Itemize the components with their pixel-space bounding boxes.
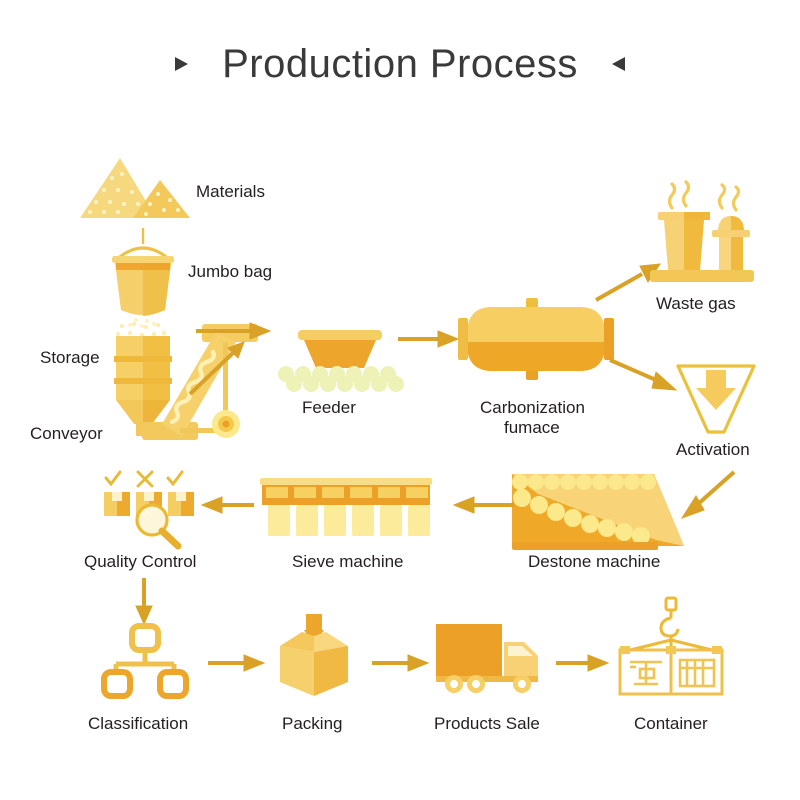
delivery-truck-icon: [436, 620, 550, 696]
node-waste-gas[interactable]: [644, 182, 760, 294]
arrow-sieve-quality: [200, 496, 254, 514]
feeder-hopper-icon: [276, 330, 402, 392]
title-text: Production Process: [222, 42, 578, 87]
label-waste-gas: Waste gas: [656, 294, 736, 314]
label-classification: Classification: [88, 714, 188, 734]
arrow-conveyor-up: [186, 338, 258, 400]
node-products-sale[interactable]: [436, 620, 550, 696]
label-materials: Materials: [196, 182, 265, 202]
arrow-products-sale-container: [556, 654, 610, 672]
node-activation[interactable]: [674, 362, 758, 438]
label-sieve: Sieve machine: [292, 552, 404, 572]
label-container: Container: [634, 714, 708, 734]
node-classification[interactable]: [104, 624, 186, 700]
label-storage: Storage: [40, 348, 100, 368]
shipping-container-icon: [612, 596, 730, 698]
node-packing[interactable]: [272, 612, 356, 698]
arrow-conveyor-feeder: [196, 322, 274, 340]
arrow-classification-packing: [208, 654, 266, 672]
quality-control-icon: [98, 468, 198, 548]
label-carbonization-line1: Carbonization: [480, 398, 585, 418]
node-destone[interactable]: [508, 470, 688, 556]
activation-funnel-icon: [674, 362, 758, 438]
material-pile-icon: [78, 152, 198, 222]
label-carbonization-line2: fumace: [504, 418, 560, 438]
waste-gas-stacks-icon: [644, 182, 760, 294]
label-jumbo-bag: Jumbo bag: [188, 262, 272, 282]
node-carbonization[interactable]: [450, 298, 622, 380]
arrow-destone-sieve: [452, 496, 514, 514]
diagram-canvas: Production Process Materials: [0, 0, 800, 800]
label-products-sale: Products Sale: [434, 714, 540, 734]
label-packing: Packing: [282, 714, 342, 734]
label-feeder: Feeder: [302, 398, 356, 418]
node-feeder[interactable]: [276, 330, 402, 392]
node-quality-control[interactable]: [98, 468, 198, 548]
destone-machine-icon: [508, 470, 688, 556]
triangle-left-icon: [612, 57, 625, 71]
node-container[interactable]: [612, 596, 730, 698]
node-sieve[interactable]: [258, 478, 434, 538]
arrow-packing-products-sale: [372, 654, 430, 672]
label-quality-control: Quality Control: [84, 552, 196, 572]
carbonization-furnace-icon: [450, 298, 622, 380]
page-title: Production Process: [0, 42, 800, 87]
label-conveyor: Conveyor: [30, 424, 103, 444]
sieve-machine-icon: [258, 478, 434, 538]
classification-tree-icon: [104, 624, 186, 700]
packing-box-icon: [272, 612, 356, 698]
triangle-right-icon: [175, 57, 188, 71]
arrow-carbonization-activation: [608, 356, 680, 398]
node-materials[interactable]: [78, 152, 198, 222]
label-destone: Destone machine: [528, 552, 660, 572]
arrow-quality-classification: [134, 578, 154, 626]
label-activation: Activation: [676, 440, 750, 460]
